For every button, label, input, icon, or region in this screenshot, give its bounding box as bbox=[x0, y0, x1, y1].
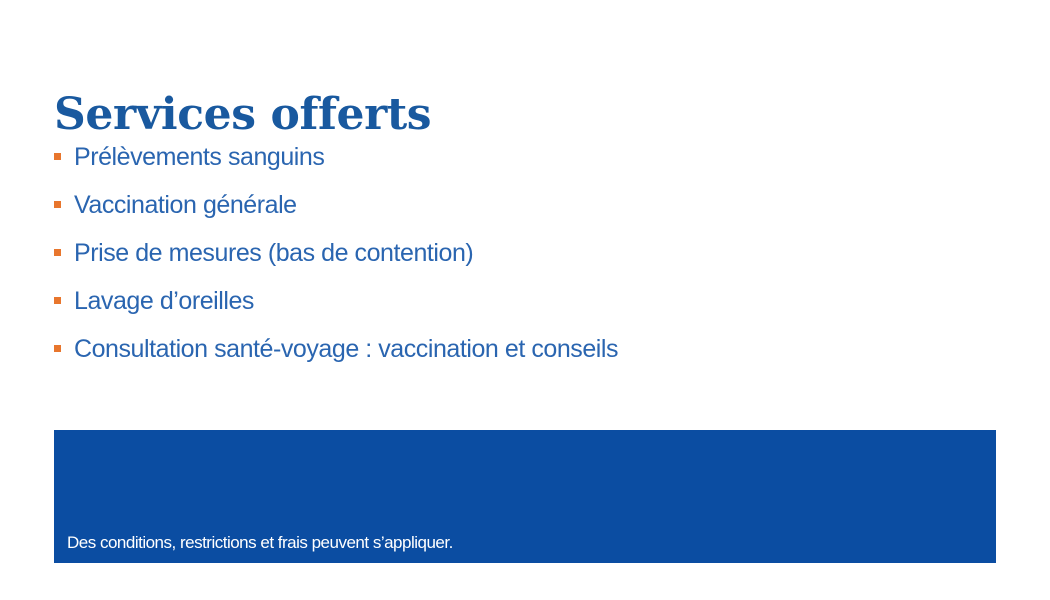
square-bullet-icon bbox=[54, 201, 61, 208]
disclaimer-banner: Des conditions, restrictions et frais pe… bbox=[54, 430, 996, 563]
square-bullet-icon bbox=[54, 297, 61, 304]
services-bullet-list: Prélèvements sanguins Vaccination généra… bbox=[54, 140, 914, 380]
list-item-label: Prise de mesures (bas de contention) bbox=[74, 236, 473, 270]
square-bullet-icon bbox=[54, 153, 61, 160]
list-item-label: Consultation santé-voyage : vaccination … bbox=[74, 332, 618, 366]
list-item-label: Prélèvements sanguins bbox=[74, 140, 324, 174]
page-title: Services offerts bbox=[54, 88, 431, 142]
list-item: Prélèvements sanguins bbox=[54, 140, 914, 188]
list-item: Consultation santé-voyage : vaccination … bbox=[54, 332, 914, 380]
disclaimer-text: Des conditions, restrictions et frais pe… bbox=[67, 532, 453, 554]
slide-canvas: Services offerts Prélèvements sanguins V… bbox=[0, 0, 1050, 600]
list-item: Vaccination générale bbox=[54, 188, 914, 236]
list-item: Lavage d’oreilles bbox=[54, 284, 914, 332]
list-item-label: Vaccination générale bbox=[74, 188, 297, 222]
square-bullet-icon bbox=[54, 249, 61, 256]
list-item: Prise de mesures (bas de contention) bbox=[54, 236, 914, 284]
list-item-label: Lavage d’oreilles bbox=[74, 284, 254, 318]
square-bullet-icon bbox=[54, 345, 61, 352]
